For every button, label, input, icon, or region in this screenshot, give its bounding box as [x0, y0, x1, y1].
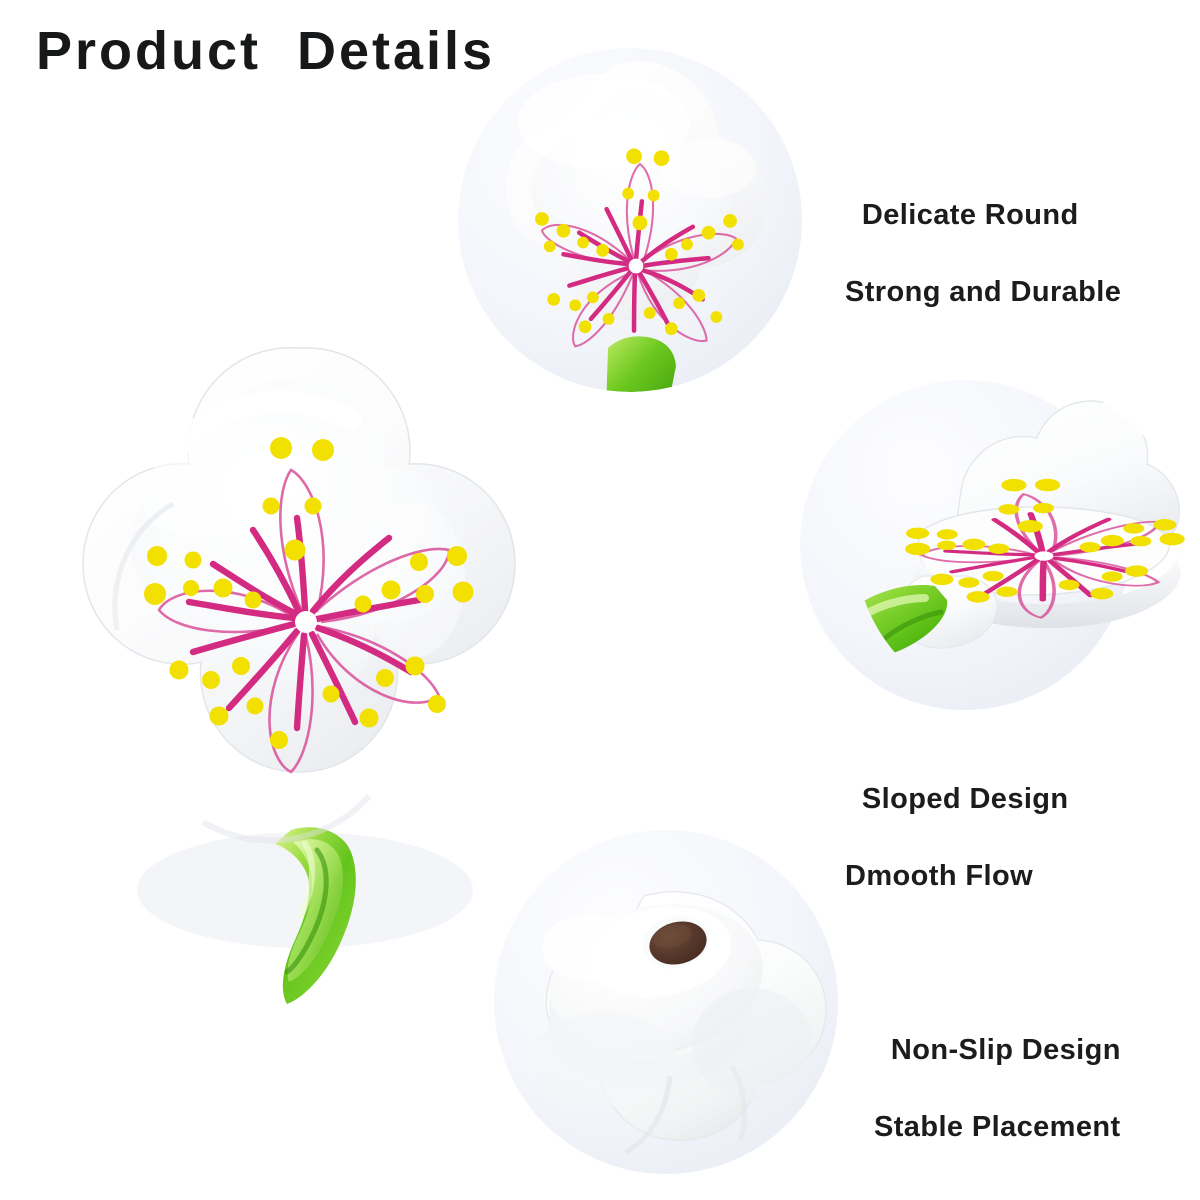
page-title: Product Details: [36, 22, 495, 81]
caption-delicate-round: Delicate Round Strong and Durable: [845, 158, 1121, 349]
caption-line-2: Stable Placement: [874, 1108, 1121, 1146]
hero-product-image: [55, 330, 545, 1000]
caption-line-1: Delicate Round: [862, 199, 1079, 231]
flower-dish-underside-illustration: [494, 830, 838, 1174]
flower-center-dot: [629, 259, 644, 274]
stem-sliver: [606, 336, 676, 392]
flower-center-dot: [295, 611, 317, 633]
caption-line-1: Non-Slip Design: [891, 1034, 1121, 1066]
flower-dish-sideview-illustration: [690, 380, 1130, 710]
caption-sloped-design: Sloped Design Dmooth Flow: [845, 742, 1069, 933]
gloss-highlight-secondary: [660, 138, 756, 198]
stem-handle: [829, 585, 947, 660]
gloss-highlight-right: [361, 502, 465, 658]
flower-dish-topview-illustration: [55, 330, 545, 1000]
caption-non-slip-design: Non-Slip Design Stable Placement: [874, 993, 1121, 1184]
underside-shade-right: [692, 988, 812, 1100]
caption-line-2: Strong and Durable: [845, 273, 1121, 311]
stem-body: [829, 585, 947, 660]
inset-sloped-design: [800, 380, 1130, 710]
underside-shade-left: [532, 1012, 676, 1108]
inset-non-slip-design: [494, 830, 838, 1174]
gloss-highlight: [542, 914, 638, 982]
caption-line-2: Dmooth Flow: [845, 857, 1069, 895]
caption-line-1: Sloped Design: [862, 783, 1069, 815]
inset-circle-backdrop: [494, 830, 838, 1174]
